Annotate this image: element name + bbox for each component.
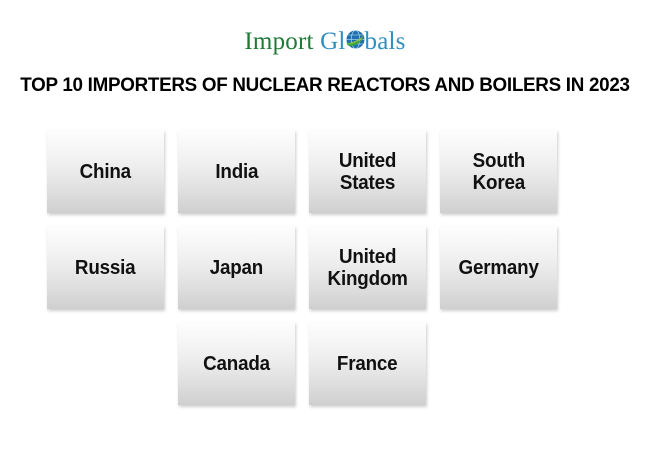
country-box-india[interactable]: India	[178, 130, 295, 213]
page-title: TOP 10 IMPORTERS OF NUCLEAR REACTORS AND…	[11, 74, 638, 97]
country-box-south-korea[interactable]: South Korea	[440, 130, 557, 213]
country-label: United States	[339, 150, 396, 195]
country-label: United Kingdom	[327, 246, 407, 291]
brand-word-import: Import	[244, 28, 313, 55]
country-label: Russia	[75, 257, 136, 279]
country-label: China	[80, 161, 131, 183]
brand-word-gl: Gl	[320, 28, 345, 55]
country-box-japan[interactable]: Japan	[178, 226, 295, 309]
infographic-page: Import Gl bals TOP 10 IMPORTERS OF NUCLE…	[0, 0, 650, 450]
country-box-germany[interactable]: Germany	[440, 226, 557, 309]
country-row: Canada France	[178, 322, 607, 405]
country-box-russia[interactable]: Russia	[47, 226, 164, 309]
country-row: China India United States South Korea	[47, 130, 607, 213]
globe-icon	[346, 30, 365, 49]
country-label: South Korea	[472, 150, 524, 195]
country-grid: China India United States South Korea Ru…	[47, 130, 607, 418]
brand-word-bals: bals	[365, 28, 406, 55]
country-label: Japan	[210, 257, 263, 279]
country-label: Germany	[458, 257, 538, 279]
country-box-china[interactable]: China	[47, 130, 164, 213]
country-box-france[interactable]: France	[309, 322, 426, 405]
country-label: Canada	[203, 353, 270, 375]
country-box-canada[interactable]: Canada	[178, 322, 295, 405]
country-label: India	[215, 161, 258, 183]
country-label: France	[337, 353, 398, 375]
country-box-united-states[interactable]: United States	[309, 130, 426, 213]
brand-logo: Import Gl bals	[0, 29, 650, 54]
country-box-united-kingdom[interactable]: United Kingdom	[309, 226, 426, 309]
country-row: Russia Japan United Kingdom Germany	[47, 226, 607, 309]
